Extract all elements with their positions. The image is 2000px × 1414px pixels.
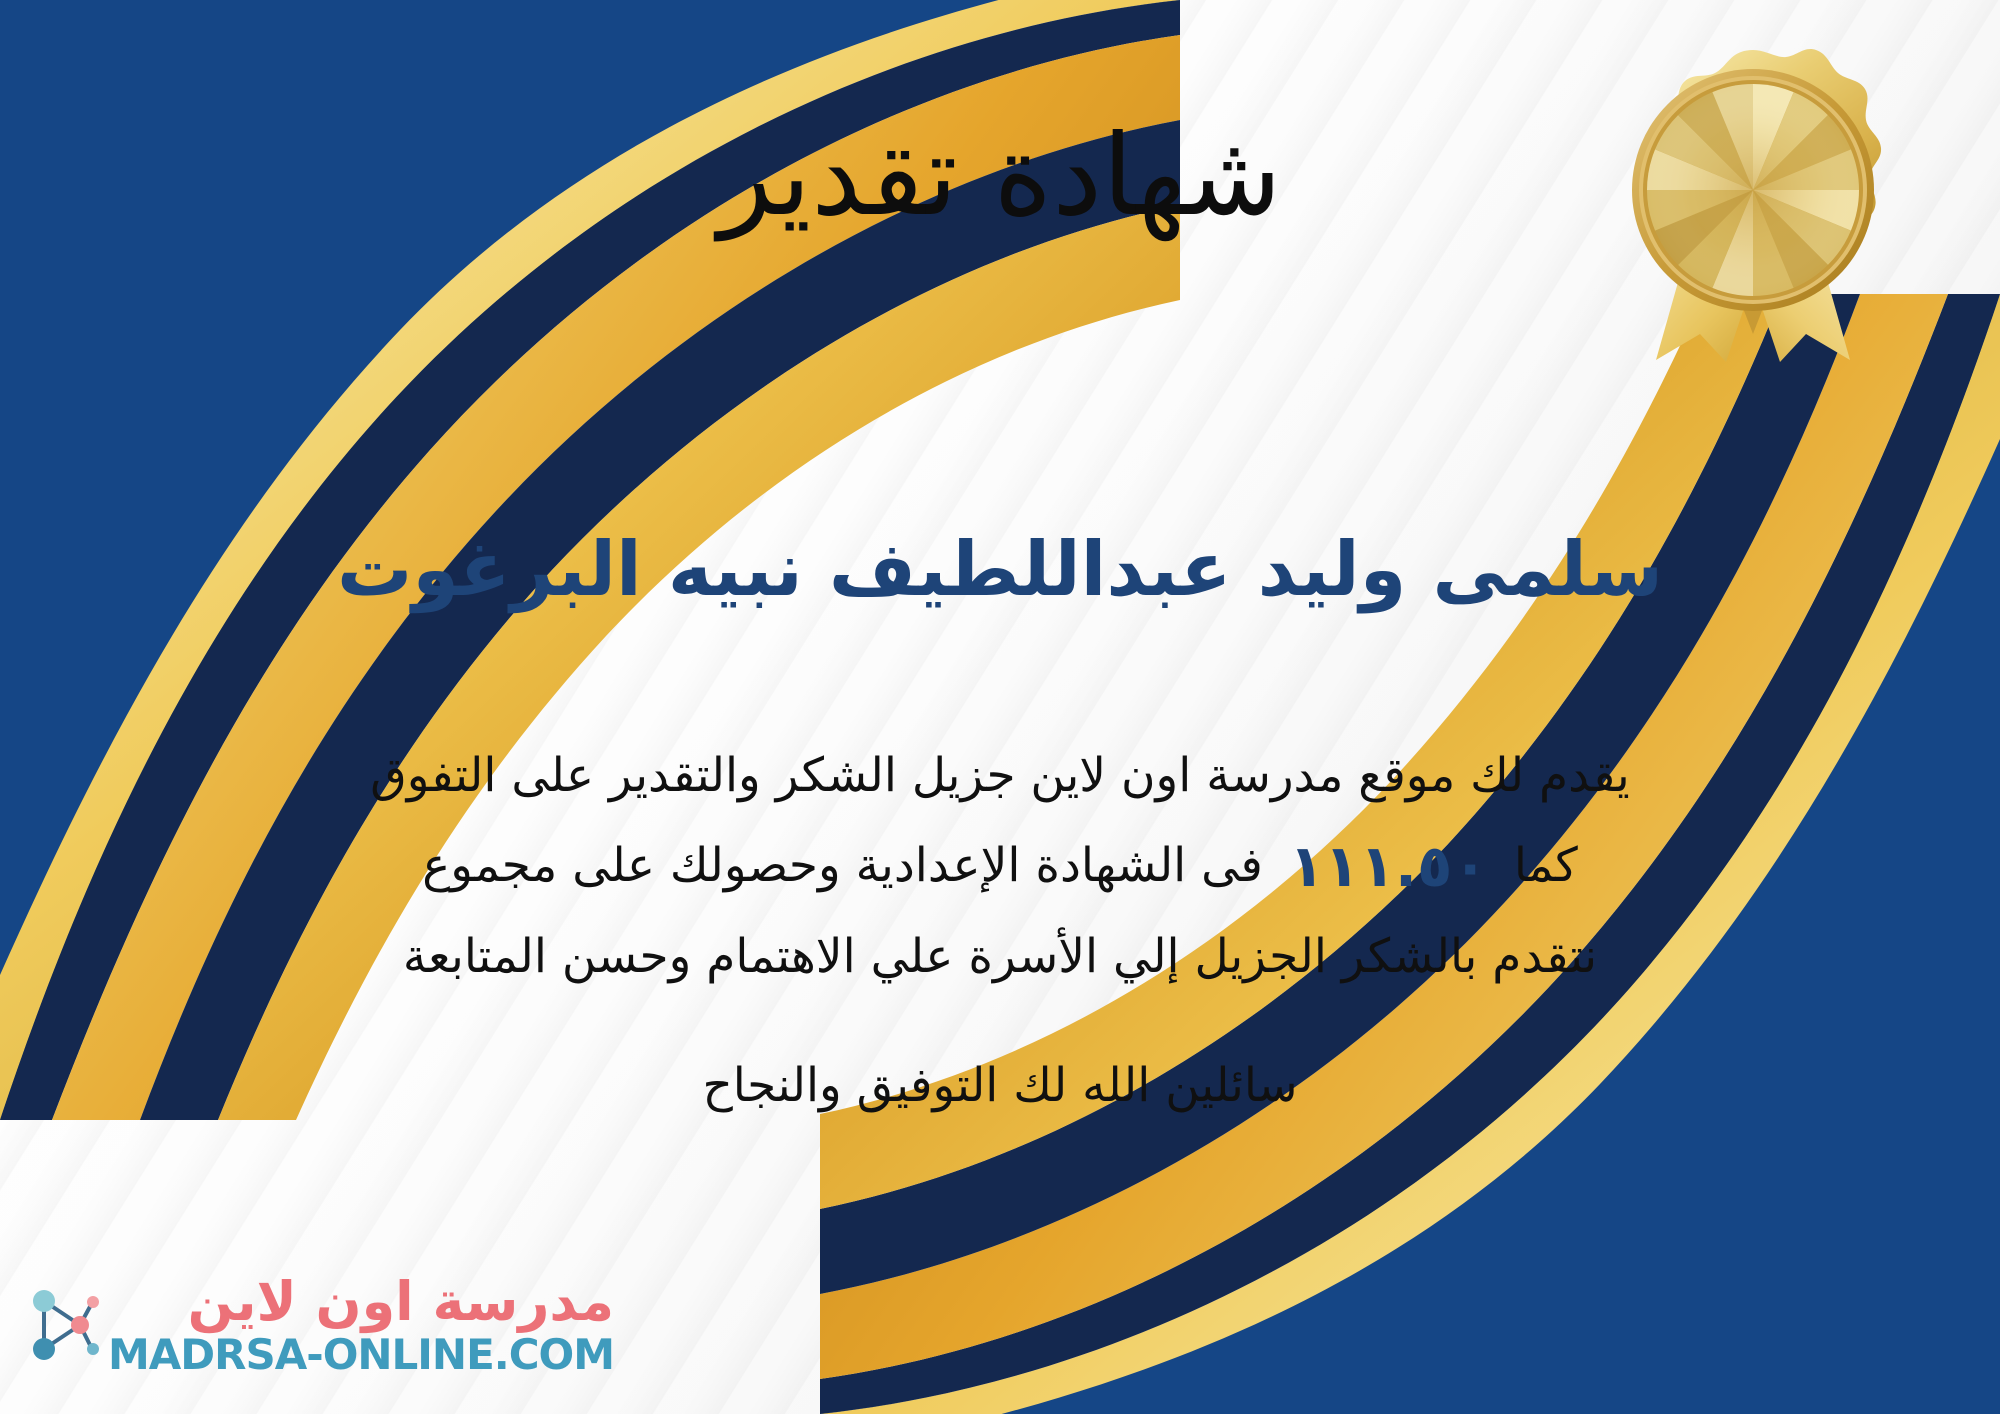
brand-arabic-name: مدرسة اون لاين [188,1272,614,1331]
brand-logo[interactable]: مدرسة اون لاين MADRSA-ONLINE.COM [22,1272,614,1378]
brand-text-group: مدرسة اون لاين MADRSA-ONLINE.COM [108,1272,614,1378]
network-nodes-icon [22,1279,100,1371]
brand-website: MADRSA-ONLINE.COM [108,1332,614,1378]
gold-award-rosette-icon [1608,42,1898,362]
certificate-card: شهادة تقدير سلمى وليد عبداللطيف نبيه الب… [0,0,2000,1414]
